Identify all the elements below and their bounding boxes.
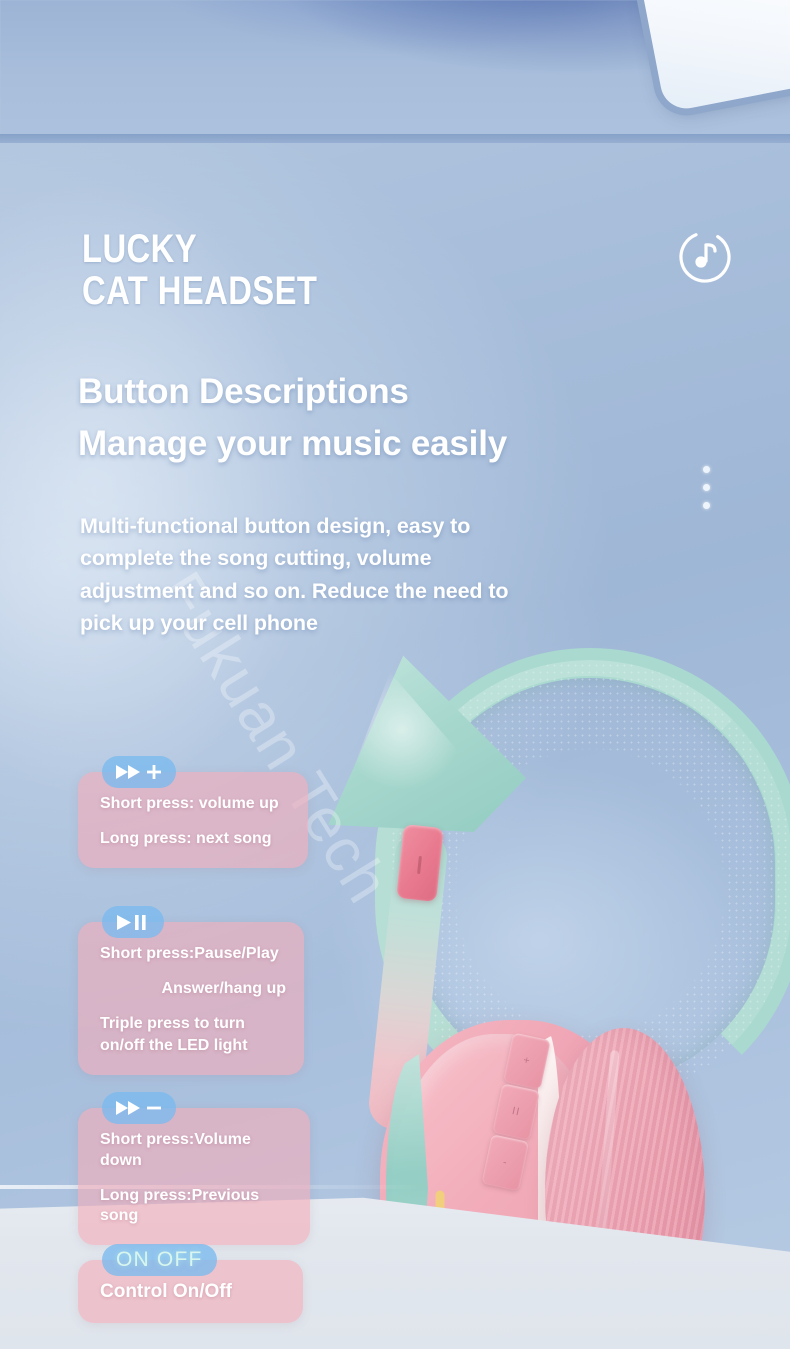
play-pause-icon: [117, 914, 149, 931]
callout-line: Long press: next song: [100, 829, 290, 850]
product-ad-stage: + II - ON OFF Fukuan Tech LUCKY CAT HEAD…: [0, 0, 790, 1349]
fast-forward-plus-icon: [116, 764, 162, 780]
callout-play-pause: Short press:Pause/Play Answer/hang up Tr…: [78, 922, 304, 1075]
callout-volume-up: Short press: volume up Long press: next …: [78, 772, 308, 868]
page-title: LUCKY CAT HEADSET: [82, 228, 317, 312]
callout-line: Answer/hang up: [100, 979, 286, 1000]
callout-power: ON OFF Control On/Off: [78, 1260, 303, 1323]
callout-line: Triple press to turn: [100, 1014, 286, 1035]
badge-on-off: ON OFF: [102, 1244, 217, 1276]
music-note-circle-icon: [676, 228, 734, 286]
callout-line: Control On/Off: [100, 1280, 285, 1305]
callout-card: Short press:Pause/Play Answer/hang up Tr…: [78, 922, 304, 1075]
callout-line: Short press:Pause/Play: [100, 944, 286, 965]
callout-card: Short press:Volume down Long press:Previ…: [78, 1108, 310, 1245]
callout-line: on/off the LED light: [100, 1036, 286, 1057]
three-dots-marker: [703, 466, 710, 509]
badge-play-pause: [102, 906, 164, 938]
badge-fast-forward-plus: [102, 756, 176, 788]
callout-line: Short press:Volume down: [100, 1130, 292, 1172]
content-layer: LUCKY CAT HEADSET Button Descriptions Ma…: [0, 0, 790, 1349]
badge-on-off-label: ON OFF: [116, 1248, 203, 1272]
fast-forward-minus-icon: [116, 1100, 162, 1116]
dot-icon: [703, 466, 710, 473]
badge-fast-forward-minus: [102, 1092, 176, 1124]
dot-icon: [703, 502, 710, 509]
callout-line: Long press:Previous song: [100, 1186, 292, 1228]
description-paragraph: Multi-functional button design, easy to …: [80, 510, 690, 639]
dot-icon: [703, 484, 710, 491]
callout-volume-down: Short press:Volume down Long press:Previ…: [78, 1108, 310, 1245]
section-heading: Button Descriptions Manage your music ea…: [78, 366, 507, 470]
callout-line: Short press: volume up: [100, 794, 290, 815]
